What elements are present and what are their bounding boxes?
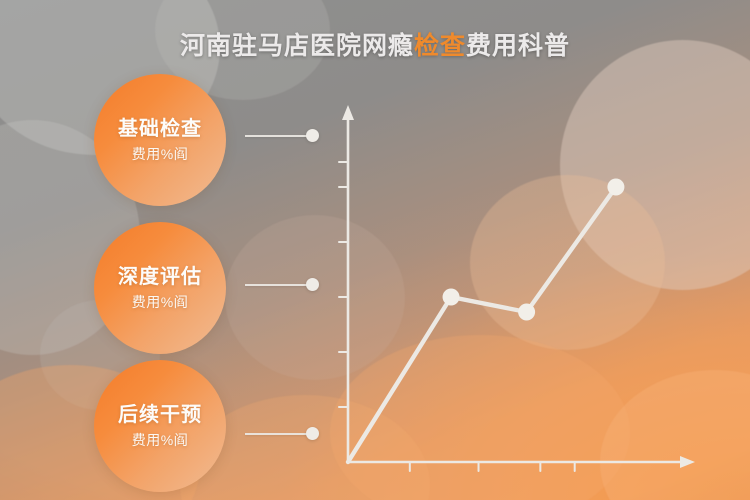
data-line [348,187,616,462]
bubble-title: 深度评估 [118,266,202,288]
connector-dot-icon [306,129,319,142]
connector-dot-icon [306,278,319,291]
page-title-before: 河南驻马店医院网瘾 [180,32,414,60]
bubble-title: 基础检查 [118,118,202,140]
connector-dot-icon [306,427,319,440]
bubble-title: 后续干预 [118,404,202,426]
bubble-basic-exam[interactable]: 基础检查 费用%阎 [94,74,226,206]
page-title-highlight: 检查 [414,32,466,60]
connector-line [245,433,311,435]
data-point-marker[interactable] [607,179,624,196]
page-title-after: 费用科普 [466,32,570,60]
poster-canvas: 河南驻马店医院网瘾检查费用科普 基础检查 费用%阎 深度评估 费用%阎 后续干预… [0,0,750,500]
data-point-marker[interactable] [518,304,535,321]
line-chart [330,100,700,485]
bubble-deep-assessment[interactable]: 深度评估 费用%阎 [94,222,226,354]
bubble-subtitle: 费用%阎 [132,433,188,448]
page-title: 河南驻马店医院网瘾检查费用科普 [0,26,750,62]
arrow-up-icon [342,105,354,120]
connector-line [245,284,311,286]
data-point-marker[interactable] [443,289,460,306]
chart-svg [330,100,700,485]
bubble-followup-intervention[interactable]: 后续干预 费用%阎 [94,360,226,492]
connector-line [245,135,311,137]
arrow-right-icon [680,456,695,468]
bubble-subtitle: 费用%阎 [132,295,188,310]
bubble-subtitle: 费用%阎 [132,147,188,162]
